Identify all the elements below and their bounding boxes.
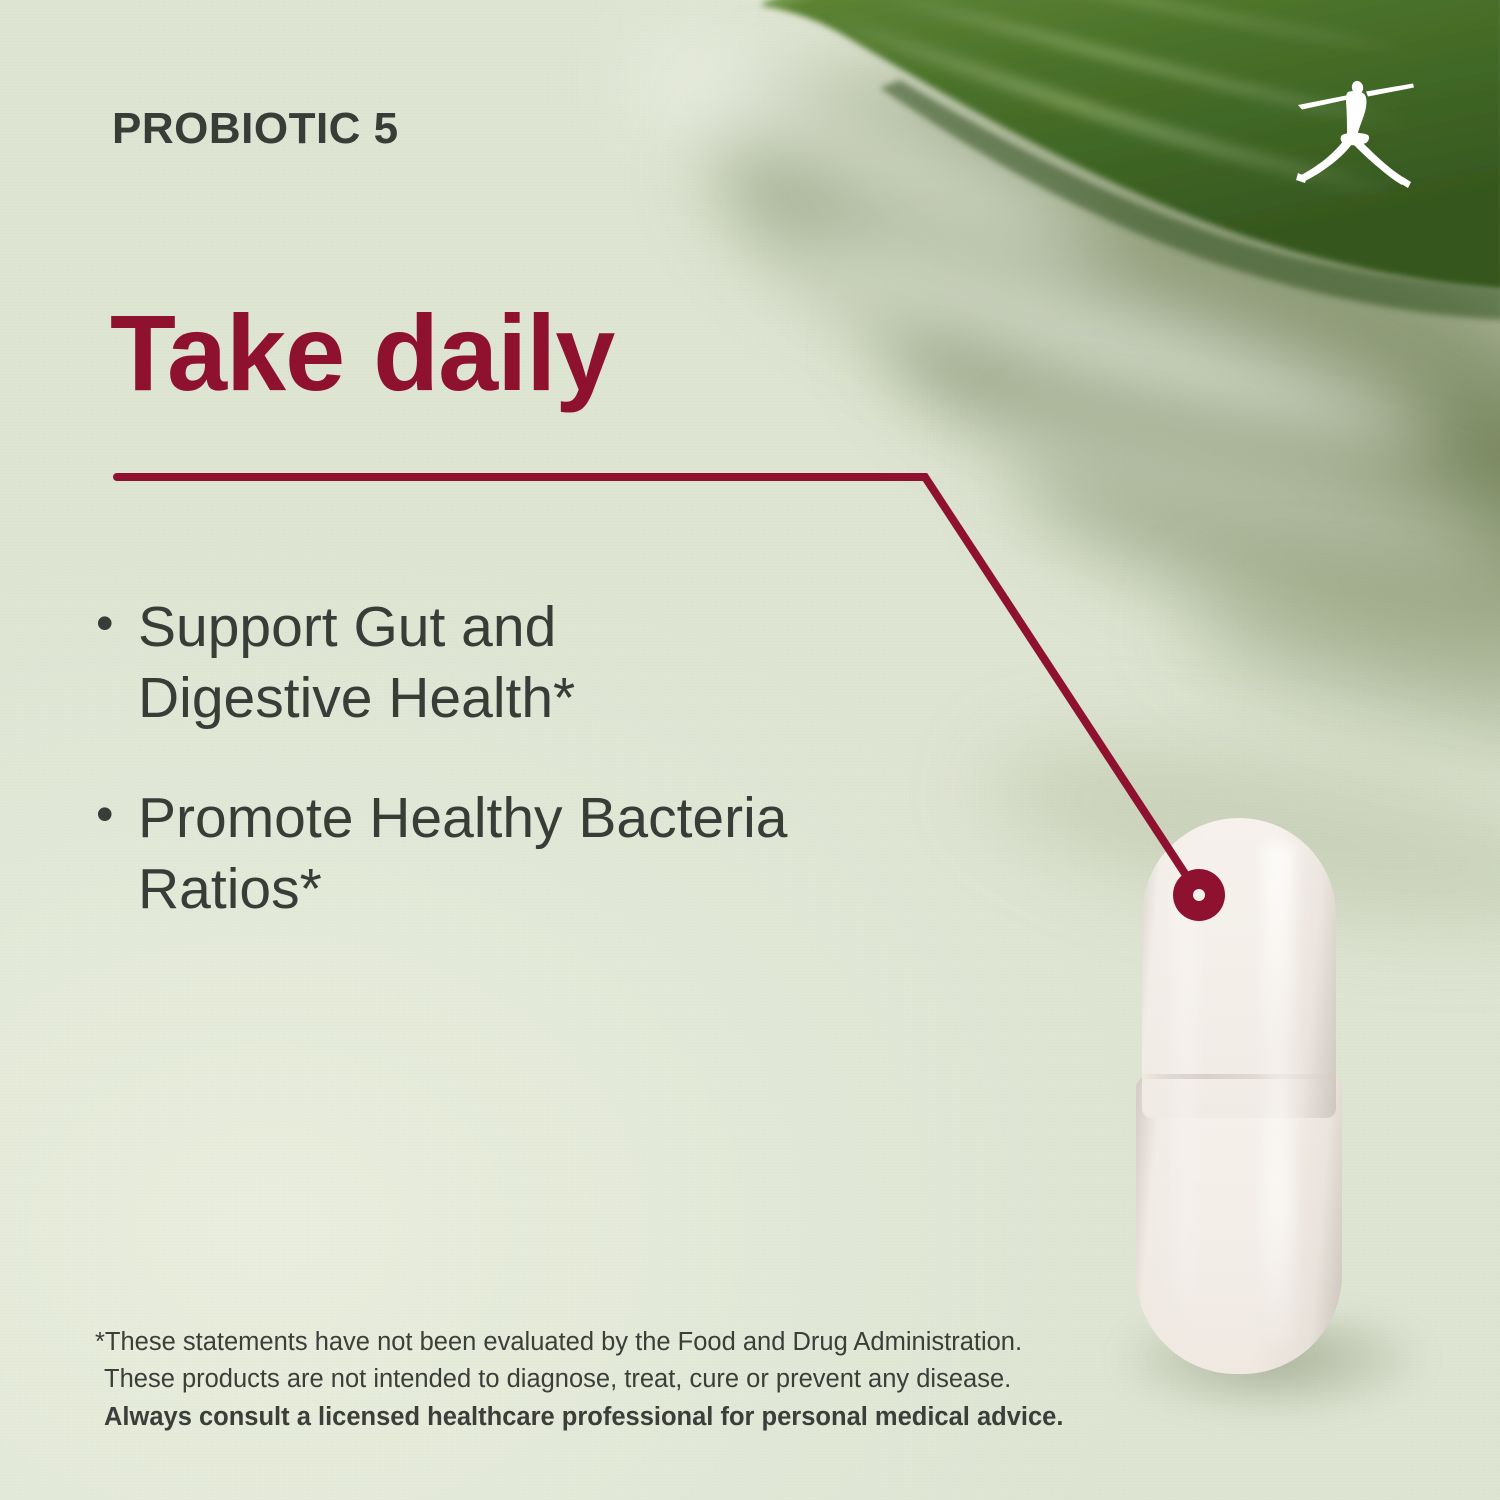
list-item-label: Support Gut and Digestive Health* [138, 592, 796, 733]
capsule-seam [1140, 1074, 1338, 1079]
disclaimer-line-1: *These statements have not been evaluate… [95, 1324, 1145, 1361]
yoga-warrior-figure-icon [1296, 80, 1414, 188]
disclaimer: *These statements have not been evaluate… [95, 1324, 1145, 1436]
list-item: • Support Gut and Digestive Health* [96, 592, 796, 733]
disclaimer-line-2: These products are not intended to diagn… [95, 1361, 1145, 1398]
headline: Take daily [110, 296, 614, 409]
benefits-list: • Support Gut and Digestive Health* • Pr… [96, 592, 796, 975]
list-item: • Promote Healthy Bacteria Ratios* [96, 783, 796, 924]
capsule-highlight [1176, 878, 1194, 1308]
capsule-body-half [1136, 1076, 1342, 1374]
brand-logo [1290, 78, 1418, 190]
capsule-highlight [1264, 844, 1294, 1344]
headline-divider-rule [113, 473, 925, 481]
product-name: PROBIOTIC 5 [112, 104, 399, 154]
list-item-label: Promote Healthy Bacteria Ratios* [138, 783, 796, 924]
product-capsule-image [1136, 818, 1342, 1374]
bullet-glyph-icon: • [96, 592, 138, 654]
product-marketing-image: PROBIOTIC 5 Take daily • Support Gut and… [0, 0, 1500, 1500]
disclaimer-line-3: Always consult a licensed healthcare pro… [95, 1399, 1145, 1436]
bullet-glyph-icon: • [96, 783, 138, 845]
capsule-cap-half [1142, 818, 1336, 1118]
